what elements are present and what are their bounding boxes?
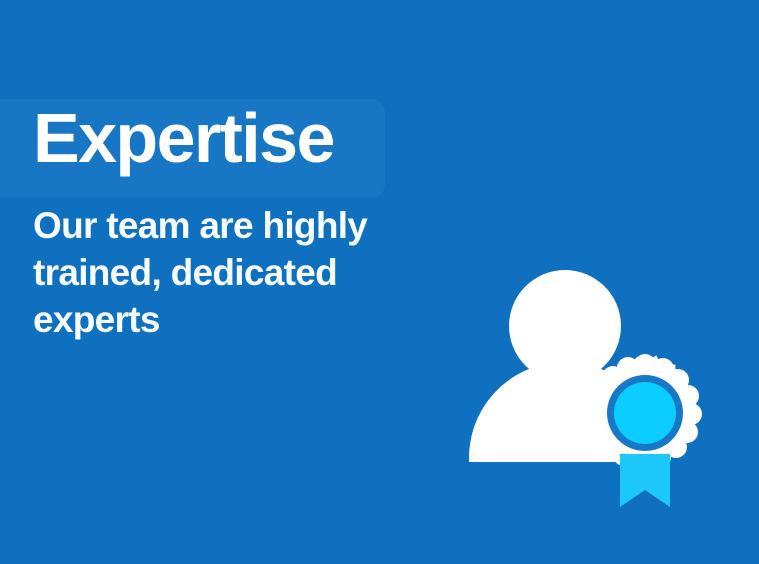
subtitle-line-1: Our team are highly [33, 202, 463, 249]
person-head-icon [509, 270, 621, 382]
page-title: Expertise [33, 96, 463, 180]
slide-canvas: Expertise Our team are highly trained, d… [0, 0, 759, 564]
award-badge-ribbon-icon [620, 454, 670, 507]
award-badge-center-icon [614, 382, 676, 444]
text-block: Expertise Our team are highly trained, d… [33, 96, 463, 343]
person-with-award-badge-icon [455, 262, 720, 518]
subtitle-line-3: experts [33, 296, 463, 343]
subtitle-line-2: trained, dedicated [33, 249, 463, 296]
slide-subtitle: Our team are highly trained, dedicated e… [33, 180, 463, 343]
